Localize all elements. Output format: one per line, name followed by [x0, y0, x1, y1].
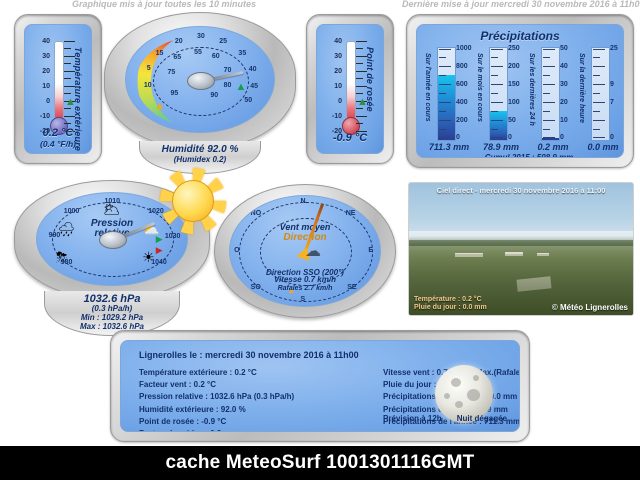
humidity-gauge-face: 5 10 15 20 30 25 35 40 45 50 75 65 55 60…	[125, 26, 275, 134]
footer-text: cache MeteoSurf 1001301116GMT	[166, 452, 475, 474]
humidity-tick: 20	[175, 38, 183, 45]
temp-tick: 0	[24, 98, 50, 105]
webcam-overlay: Température : 0.2 °C Pluie du jour : 0.0…	[414, 296, 487, 314]
humidity-tick: 10	[144, 82, 152, 89]
summary-item: Humidité extérieure : 92.0 %	[139, 404, 294, 416]
humidity-tick: 45	[250, 83, 258, 90]
humidity-min-marker-icon: ▲	[154, 101, 165, 112]
pressure-hub	[99, 231, 127, 249]
precip-value: 78.9 mm	[473, 142, 529, 152]
precip-bar-ticks	[592, 48, 609, 140]
temperature-gauge-face: 40 30 20 10 0 -10 -20 Température extéri…	[24, 24, 92, 154]
weather-rain-icon: 🌧	[58, 222, 76, 236]
header-left-text: Graphique mis à jour toutes les 10 minut…	[72, 0, 256, 9]
dewpoint-tick: -10	[316, 113, 342, 120]
precip-column-hour: Sur la dernière heure 25 9 7 0 0.0 mm	[577, 47, 624, 155]
precip-label: Sur le mois en cours	[476, 53, 483, 122]
summary-panel-face: Lignerolles le : mercredi 30 novembre 20…	[120, 340, 520, 432]
temperature-gauge[interactable]: 40 30 20 10 0 -10 -20 Température extéri…	[14, 14, 102, 164]
humidity-hub	[187, 72, 215, 90]
webcam-image[interactable]: Ciel direct - mercredi 30 novembre 2016 …	[408, 182, 634, 316]
precip-tick: 0	[508, 134, 512, 141]
precip-tick: 25	[610, 45, 618, 52]
compass-n: N	[300, 198, 305, 205]
precip-bar	[591, 47, 610, 141]
precip-tick: 40	[560, 63, 568, 70]
precip-label: Sur les dernières 24 h	[528, 53, 535, 126]
sun-decoration-icon	[160, 168, 226, 234]
precip-tick: 250	[508, 45, 520, 52]
precip-tick: 100	[508, 99, 520, 106]
temp-tick: 10	[24, 83, 50, 90]
dewpoint-tick: 10	[316, 83, 342, 90]
wind-gauge-face: N NE E SE S SO O NO Vent moyen Direction…	[229, 195, 382, 308]
dewpoint-tick: 20	[316, 68, 342, 75]
weather-cloud-icon: 🌥	[103, 202, 121, 216]
precipitation-panel-face: Précipitations Sur l'année en cours 1000…	[416, 24, 624, 158]
precip-column-24h: Sur les dernières 24 h 50 40 30 20 10 0 …	[527, 47, 577, 155]
humidity-inner-tick: 55	[194, 49, 202, 56]
precip-bar-ticks	[438, 48, 455, 140]
precip-tick: 600	[456, 81, 468, 88]
humidity-tick: 35	[238, 50, 246, 57]
precip-tick: 400	[456, 99, 468, 106]
precip-tick: 1000	[456, 45, 472, 52]
humidity-tick: 40	[249, 66, 257, 73]
dewpoint-gauge-face: 40 30 20 10 0 -10 -20 Point de rosée ▲ -…	[316, 24, 384, 154]
precip-bar-ticks	[490, 48, 507, 140]
webcam-credit: © Météo Lignerolles	[552, 303, 628, 312]
humidity-title: Humidité 92.0 %	[140, 144, 260, 155]
precip-tick: 50	[508, 117, 516, 124]
precipitation-panel[interactable]: Précipitations Sur l'année en cours 1000…	[406, 14, 634, 168]
dewpoint-marker-icon: ▲	[357, 97, 368, 108]
temp-tick: -10	[24, 113, 50, 120]
footer-lead: cache	[166, 452, 221, 473]
precip-tick: 200	[456, 117, 468, 124]
compass-e: E	[368, 247, 373, 254]
summary-panel[interactable]: Lignerolles le : mercredi 30 novembre 20…	[110, 330, 530, 442]
humidity-tick: 50	[244, 97, 252, 104]
precip-value: 0.2 mm	[525, 142, 581, 152]
humidity-inner-tick: 80	[224, 82, 232, 89]
wind-gauge[interactable]: N NE E SE S SO O NO Vent moyen Direction…	[214, 184, 396, 318]
wind-title-2: Direction	[230, 232, 381, 243]
precip-tick: 20	[560, 99, 568, 106]
dewpoint-tube	[346, 41, 356, 119]
summary-item: Pression relative : 1032.6 hPa (0.3 hPa/…	[139, 391, 294, 403]
temp-tick: 20	[24, 68, 50, 75]
precipitation-title: Précipitations	[417, 29, 623, 43]
precip-tick: 0	[560, 134, 564, 141]
humidity-max-marker-icon: ▲	[235, 82, 246, 93]
precip-bar	[437, 47, 456, 141]
precip-label: Sur l'année en cours	[424, 53, 431, 122]
webcam-caption: Ciel direct - mercredi 30 novembre 2016 …	[409, 186, 633, 195]
summary-item: Facteur vent : 0.2 °C	[139, 379, 294, 391]
dewpoint-readout: -0.9 °C	[317, 133, 383, 145]
dewpoint-gauge[interactable]: 40 30 20 10 0 -10 -20 Point de rosée ▲ -…	[306, 14, 394, 164]
humidity-subtitle: (Humidex 0.2)	[140, 156, 260, 165]
pressure-tick: 1000	[64, 208, 80, 215]
webcam-treeline	[409, 240, 633, 247]
temperature-value: 0.2 °C	[43, 127, 74, 139]
dewpoint-tick: 40	[316, 38, 342, 45]
precip-tick: 200	[508, 63, 520, 70]
wind-cloud-icon: ☁	[305, 244, 321, 260]
temp-tick: 30	[24, 53, 50, 60]
footer-bar: cache MeteoSurf 1001301116GMT	[0, 446, 640, 480]
precip-value: 711.3 mm	[421, 142, 477, 152]
precip-column-year: Sur l'année en cours 1000 800 600 400 20…	[423, 47, 473, 155]
precip-bar-ticks	[542, 48, 559, 140]
precip-column-month: Sur le mois en cours 250 200 150 100 50 …	[475, 47, 525, 155]
moon-label: Nuit dégagée	[457, 414, 507, 423]
minmax-marker-icon: ▲	[65, 97, 76, 108]
temp-tick: 40	[24, 38, 50, 45]
humidity-inner-tick: 95	[170, 90, 178, 97]
weather-dashboard: Graphique mis à jour toutes les 10 minut…	[0, 0, 640, 480]
precip-tick: 800	[456, 63, 468, 70]
precip-label: Sur la dernière heure	[578, 53, 585, 123]
precip-tick: 10	[560, 117, 568, 124]
compass-no: NO	[251, 210, 262, 217]
temperature-tube	[54, 41, 64, 119]
webcam-overlay-rain: Pluie du jour : 0.0 mm	[414, 304, 487, 313]
temperature-readout: 0.2 °C (0.4 °F/h)	[25, 128, 91, 151]
webcam-overlay-temp: Température : 0.2 °C	[414, 296, 487, 305]
humidity-inner-tick: 75	[167, 69, 175, 76]
humidity-gauge[interactable]: 5 10 15 20 30 25 35 40 45 50 75 65 55 60…	[104, 12, 296, 150]
precip-tick: 0	[610, 134, 614, 141]
precip-tick: 7	[610, 99, 614, 106]
pressure-max-marker-icon: ▶	[156, 246, 163, 255]
summary-item: Point de rosée : -0.9 °C	[139, 416, 294, 428]
humidity-inner-tick: 65	[173, 54, 181, 61]
compass-s: S	[300, 296, 305, 303]
precip-tick: 30	[560, 81, 568, 88]
forecast-label: Prévision à 12h	[383, 414, 442, 423]
precip-tick: 50	[560, 45, 568, 52]
precip-tick: 150	[508, 81, 520, 88]
compass-ne: NE	[346, 210, 356, 217]
wind-title-1: Vent moyen	[230, 222, 381, 232]
summary-item: Facteur humidex : 0.2	[139, 428, 294, 432]
dewpoint-tick: 0	[316, 98, 342, 105]
humidity-inner-tick: 90	[210, 92, 218, 99]
wind-speed-text: Vitesse 0.7 km/h	[230, 276, 381, 285]
summary-item: Température extérieure : 0.2 °C	[139, 367, 294, 379]
humidity-inner-tick: 60	[212, 53, 220, 60]
weather-sunny-icon: ☀	[142, 250, 155, 264]
humidity-tick: 5	[147, 65, 151, 72]
temperature-sub: (0.4 °F/h)	[40, 139, 76, 149]
header-right-text: Dernière mise à jour mercredi 30 novembr…	[402, 0, 640, 9]
pressure-min-marker-icon: ▶	[156, 235, 163, 244]
footer-title: MeteoSurf 1001301116GMT	[226, 452, 475, 473]
humidity-tick: 30	[197, 33, 205, 40]
compass-o: O	[234, 247, 239, 254]
dewpoint-tick: 30	[316, 53, 342, 60]
precip-tick: 9	[610, 81, 614, 88]
precip-bar	[489, 47, 508, 141]
precip-value: 0.0 mm	[575, 142, 624, 152]
humidity-tick: 25	[219, 38, 227, 45]
weather-storm-icon: ⛈	[56, 250, 67, 264]
summary-left-column: Température extérieure : 0.2 °C Facteur …	[139, 367, 294, 432]
wind-gust-text: Rafales 2.7 km/h	[230, 285, 381, 293]
precip-tick: 0	[456, 134, 460, 141]
precip-bar	[541, 47, 560, 141]
humidity-tick: 15	[156, 50, 164, 57]
summary-title: Lignerolles le : mercredi 30 novembre 20…	[139, 350, 359, 360]
dewpoint-value: -0.9 °C	[333, 132, 367, 144]
